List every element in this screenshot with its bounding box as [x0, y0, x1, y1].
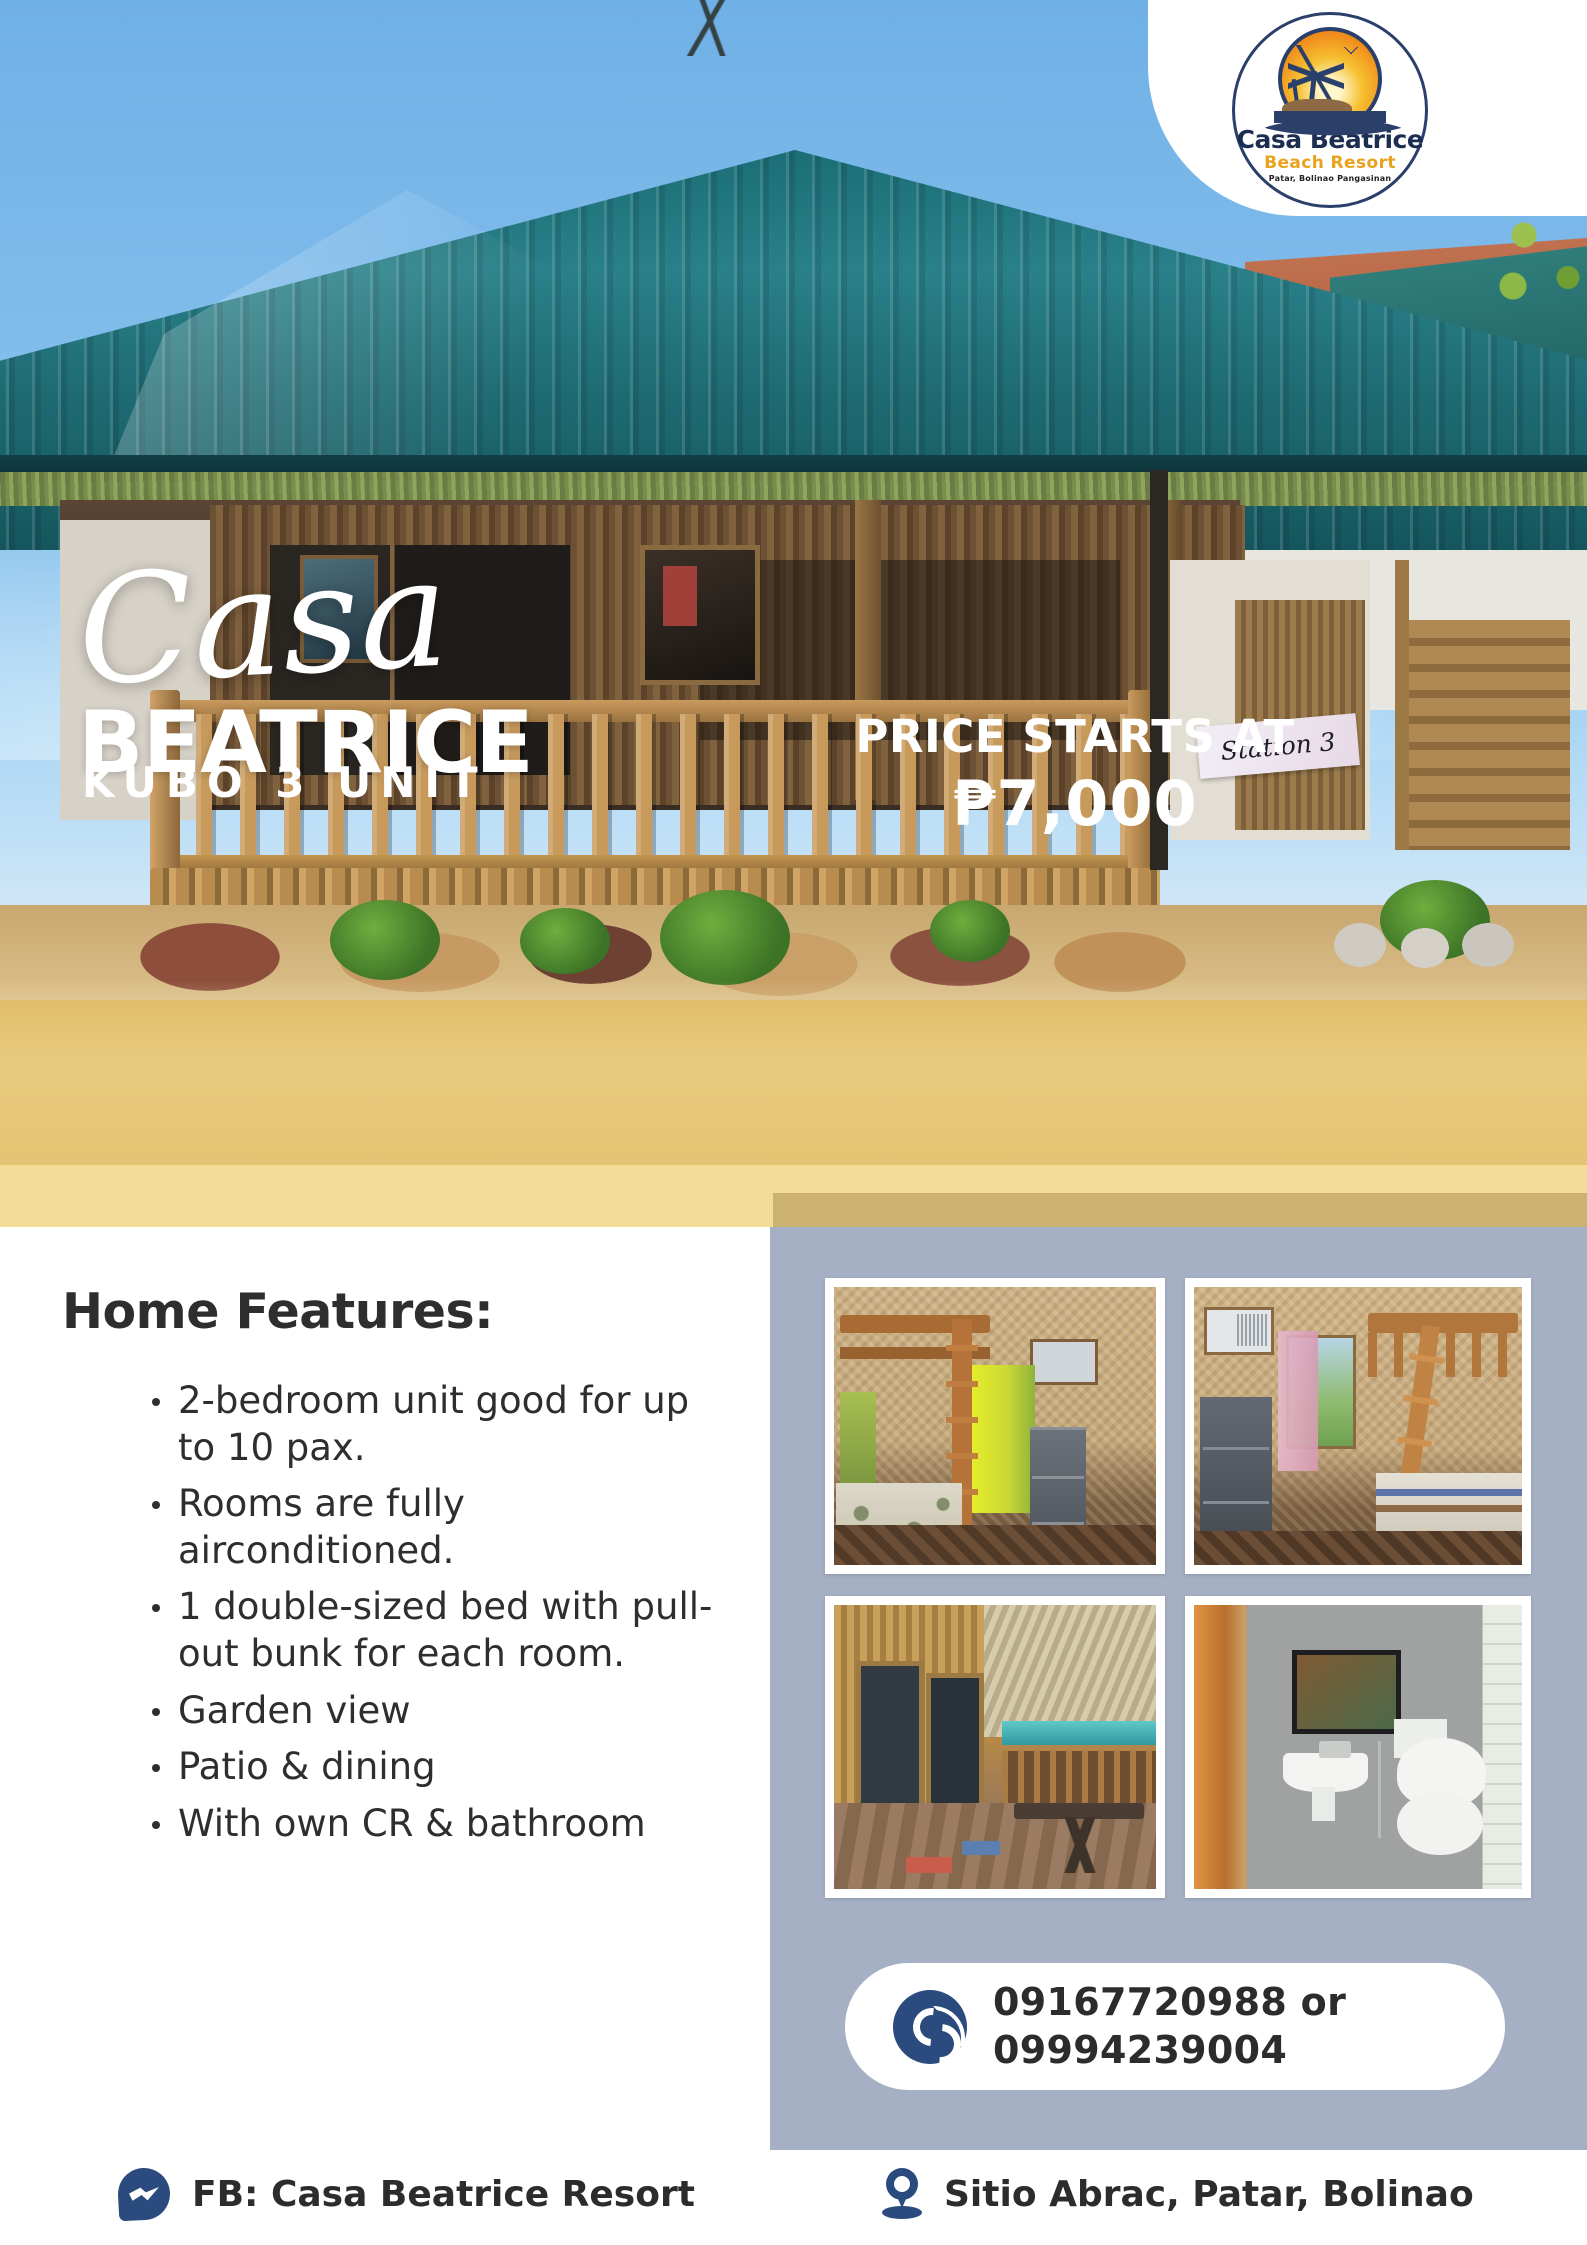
feature-item: 1 double-sized bed with pull-out bunk fo… — [148, 1584, 728, 1677]
photo-bunk-room-green — [834, 1287, 1156, 1565]
gallery-photo[interactable] — [1185, 1596, 1531, 1898]
shrub — [930, 900, 1010, 962]
phone-number-line-2: 09994239004 — [993, 2027, 1346, 2075]
shrub — [520, 908, 610, 974]
phone-number-line-1: 09167720988 or — [993, 1979, 1346, 2027]
hero-yellow-overlay — [0, 1000, 1587, 1165]
shrub — [330, 900, 440, 980]
poster: Station 3 Casa Beatrice Beach Re — [0, 0, 1587, 2245]
feature-item: Patio & dining — [148, 1744, 728, 1791]
price-label: PRICE STARTS AT — [640, 712, 1510, 762]
address-label: Sitio Abrac, Patar, Bolinao — [944, 2174, 1474, 2215]
shrub — [660, 890, 790, 985]
feature-item: 2-bedroom unit good for up to 10 pax. — [148, 1378, 728, 1471]
potted-plants — [1330, 900, 1520, 970]
price-value: ₱7,000 — [640, 768, 1510, 839]
logo-scene — [1274, 27, 1386, 123]
logo-circle: Casa Beatrice Beach Resort Patar, Bolina… — [1232, 12, 1428, 208]
phone-numbers: 09167720988 or 09994239004 — [993, 1979, 1346, 2074]
photo-bathroom — [1194, 1605, 1522, 1889]
title-script: Casa — [74, 538, 452, 707]
photo-patio-dining — [834, 1605, 1156, 1889]
photo-grid — [825, 1278, 1531, 1898]
gold-divider-strip — [773, 1193, 1587, 1227]
window — [640, 545, 760, 685]
price-block: PRICE STARTS AT ₱7,000 — [640, 712, 1510, 839]
logo-badge: Casa Beatrice Beach Resort Patar, Bolina… — [1148, 0, 1587, 216]
birds-icon — [1342, 47, 1372, 61]
logo-subtitle: Beach Resort — [1264, 153, 1396, 173]
logo-location: Patar, Bolinao Pangasinan — [1269, 174, 1391, 183]
facebook-label: FB: Casa Beatrice Resort — [192, 2174, 695, 2215]
feature-item: With own CR & bathroom — [148, 1801, 728, 1848]
feature-item: Garden view — [148, 1688, 728, 1735]
gallery-photo[interactable] — [825, 1596, 1165, 1898]
features-heading: Home Features: — [62, 1283, 493, 1340]
address-row[interactable]: Sitio Abrac, Patar, Bolinao — [880, 2168, 1474, 2220]
photo-bunk-room-aircon — [1194, 1287, 1522, 1565]
location-pin-icon — [880, 2168, 924, 2220]
messenger-icon — [118, 2168, 170, 2220]
gallery-photo[interactable] — [825, 1278, 1165, 1574]
palm-frond-icon — [630, 0, 790, 56]
phone-contact-pill[interactable]: 09167720988 or 09994239004 — [845, 1963, 1505, 2090]
feature-item: Rooms are fully airconditioned. — [148, 1481, 728, 1574]
phone-call-icon — [893, 1990, 967, 2064]
title-subtitle: KUBO 3 UNIT — [82, 762, 487, 804]
facebook-row[interactable]: FB: Casa Beatrice Resort — [118, 2168, 695, 2220]
features-list: 2-bedroom unit good for up to 10 pax. Ro… — [148, 1378, 728, 1857]
gallery-photo[interactable] — [1185, 1278, 1531, 1574]
